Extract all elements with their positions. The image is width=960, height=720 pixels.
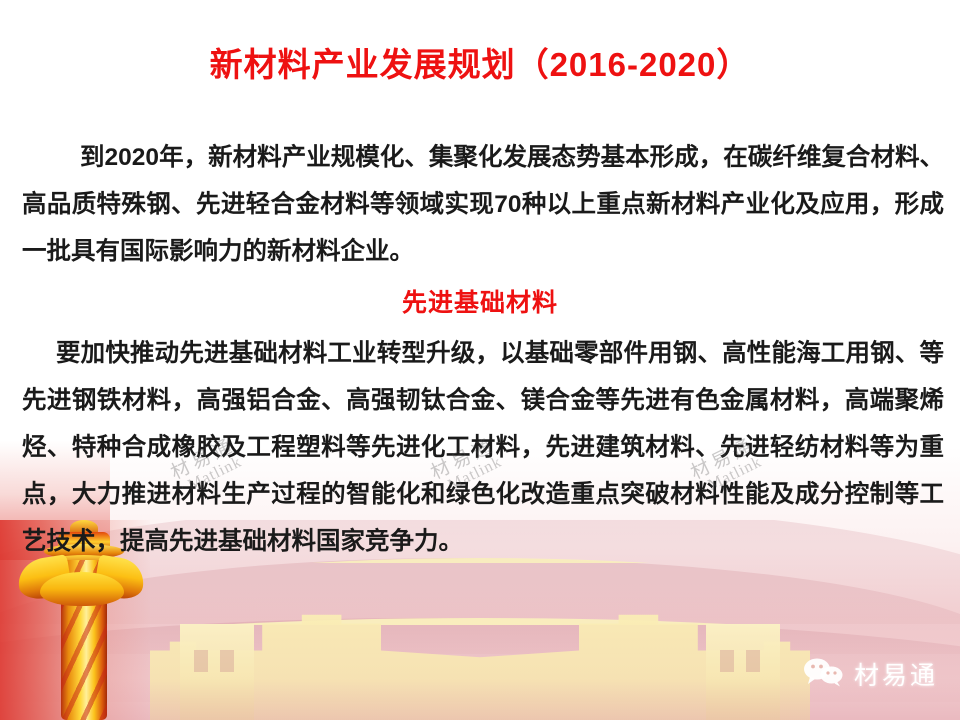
presentation-slide: 新材料产业发展规划（2016-2020） 到2020年，新材料产业规模化、集聚化… (0, 0, 960, 720)
paragraph-advanced-basic-materials: 要加快推动先进基础材料工业转型升级，以基础零部件用钢、高性能海工用钢、等先进钢铁… (22, 330, 944, 565)
slide-title: 新材料产业发展规划（2016-2020） (0, 38, 960, 86)
brand-mark: 材易通 (803, 656, 938, 692)
huabiao-cloud-center (40, 572, 124, 606)
paragraph-goals: 到2020年，新材料产业规模化、集聚化发展态势基本形成，在碳纤维复合材料、高品质… (22, 134, 944, 275)
section-heading-advanced-basic-materials: 先进基础材料 (0, 283, 960, 319)
brand-name: 材易通 (854, 656, 938, 692)
wechat-icon (803, 657, 845, 692)
